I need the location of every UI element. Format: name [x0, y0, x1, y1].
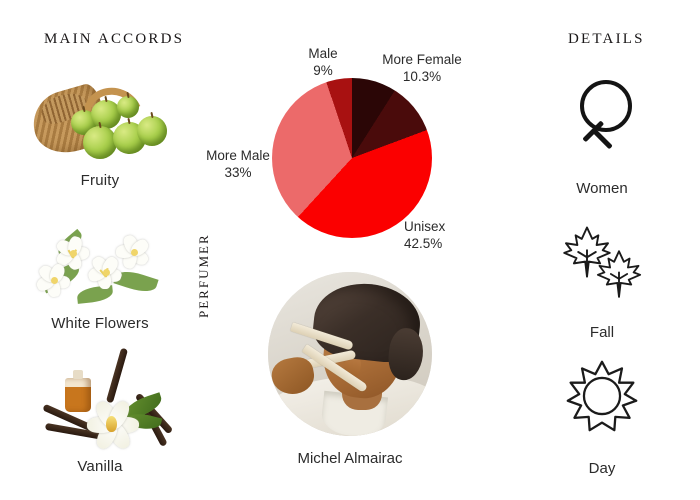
pie-label-value: 10.3% — [378, 69, 466, 86]
pie-label-name: Unisex — [404, 219, 445, 234]
accord-item[interactable]: Fruity — [18, 72, 182, 189]
pie-label-name: More Female — [382, 52, 462, 67]
detail-item-gender[interactable]: Women — [520, 78, 684, 197]
maple-leaves-icon — [547, 222, 657, 318]
pie-label-name: More Male — [206, 148, 270, 163]
sun-icon — [547, 358, 657, 454]
pie-slices — [272, 78, 432, 238]
perfumer-heading: PERFUMER — [196, 233, 212, 318]
detail-label: Fall — [520, 324, 684, 341]
accord-label: White Flowers — [18, 315, 182, 332]
accord-label: Vanilla — [18, 458, 182, 475]
detail-label: Women — [520, 180, 684, 197]
pie-label-value: 9% — [298, 63, 348, 80]
fragrance-profile-page: MAIN ACCORDS DETAILS Fruity — [0, 0, 700, 500]
accord-item[interactable]: Vanilla — [18, 358, 182, 475]
pie-label-unisex: Unisex 42.5% — [404, 219, 478, 253]
main-accords-heading: MAIN ACCORDS — [44, 31, 184, 48]
details-heading: DETAILS — [568, 31, 645, 48]
gender-pie-chart — [272, 78, 432, 238]
pie-label-name: Male — [308, 46, 337, 61]
pie-label-more-female: More Female 10.3% — [378, 52, 466, 86]
venus-gender-icon — [547, 78, 657, 174]
pie-label-value: 42.5% — [404, 236, 478, 253]
detail-label: Day — [520, 460, 684, 477]
pie-label-male: Male 9% — [298, 46, 348, 80]
white-flowers-accord-image — [25, 215, 175, 311]
vanilla-accord-image — [25, 358, 175, 454]
accord-item[interactable]: White Flowers — [18, 215, 182, 332]
pie-label-more-male: More Male 33% — [198, 148, 278, 182]
perfumer-name: Michel Almairac — [258, 450, 442, 467]
fruity-accord-image — [25, 72, 175, 168]
accord-label: Fruity — [18, 172, 182, 189]
detail-item-time[interactable]: Day — [520, 358, 684, 477]
detail-item-season[interactable]: Fall — [520, 222, 684, 341]
pie-label-value: 33% — [198, 165, 278, 182]
perfumer-portrait — [268, 272, 432, 436]
